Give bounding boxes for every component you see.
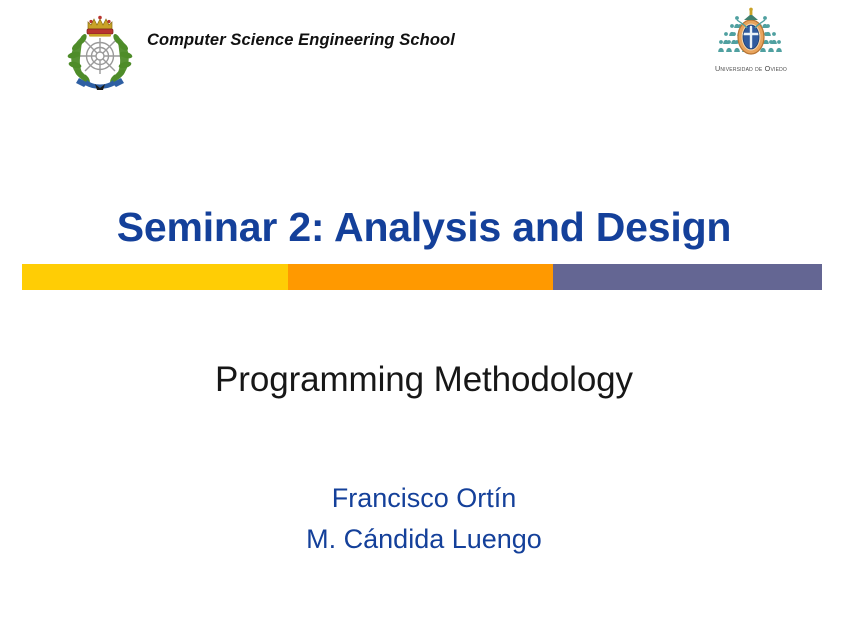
- decorative-color-bar: [22, 264, 822, 290]
- universidad-de-oviedo-logo-icon: [707, 6, 795, 64]
- color-bar-segment-yellow: [22, 264, 288, 290]
- slide-header: Computer Science Engineering School: [0, 0, 848, 105]
- author-list: Francisco Ortín M. Cándida Luengo: [0, 478, 848, 560]
- author-name: M. Cándida Luengo: [0, 519, 848, 560]
- color-bar-segment-orange: [288, 264, 554, 290]
- universidad-de-oviedo-logo: Universidad de Oviedo: [707, 6, 795, 82]
- universidad-de-oviedo-wordmark: Universidad de Oviedo: [707, 64, 795, 73]
- school-name-label: Computer Science Engineering School: [147, 31, 455, 50]
- presentation-title-slide: Computer Science Engineering School: [0, 0, 848, 636]
- author-name: Francisco Ortín: [0, 478, 848, 519]
- slide-title: Seminar 2: Analysis and Design: [0, 205, 848, 250]
- color-bar-segment-purple: [553, 264, 822, 290]
- computer-science-school-crest-icon: [57, 8, 143, 92]
- slide-subtitle: Programming Methodology: [0, 360, 848, 400]
